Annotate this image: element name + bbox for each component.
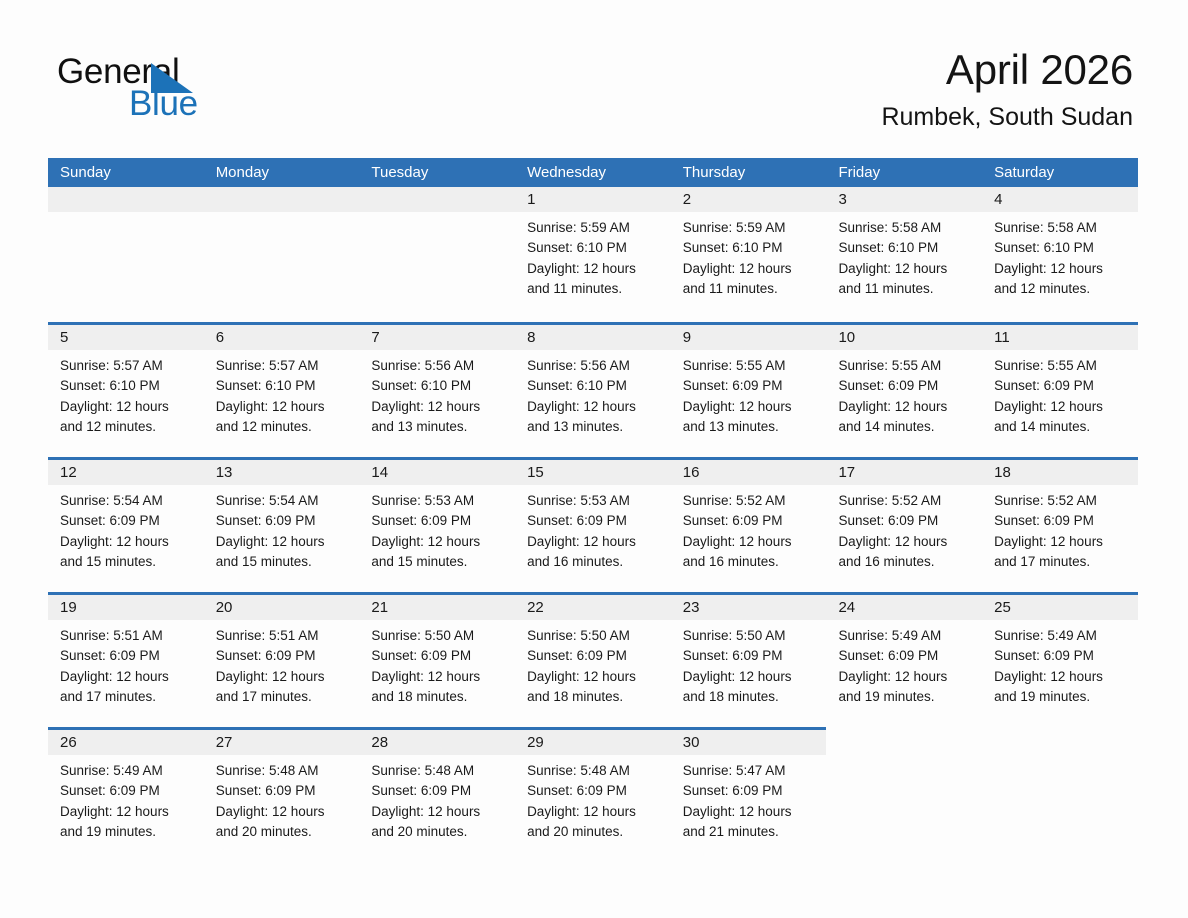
day-info-daylight2: and 20 minutes.	[371, 822, 507, 842]
day-info: Sunrise: 5:59 AMSunset: 6:10 PMDaylight:…	[515, 212, 671, 299]
day-number: 30	[683, 732, 700, 753]
day-number: 14	[371, 462, 388, 483]
day-info-sunrise: Sunrise: 5:47 AM	[683, 761, 819, 781]
calendar-day-cell-4[interactable]: 4Sunrise: 5:58 AMSunset: 6:10 PMDaylight…	[982, 187, 1138, 322]
day-info: Sunrise: 5:49 AMSunset: 6:09 PMDaylight:…	[48, 755, 204, 842]
day-info: Sunrise: 5:55 AMSunset: 6:09 PMDaylight:…	[826, 350, 982, 437]
calendar-day-cell-14[interactable]: 14Sunrise: 5:53 AMSunset: 6:09 PMDayligh…	[359, 457, 515, 592]
day-info: Sunrise: 5:54 AMSunset: 6:09 PMDaylight:…	[204, 485, 360, 572]
day-info: Sunrise: 5:53 AMSunset: 6:09 PMDaylight:…	[359, 485, 515, 572]
day-info-daylight1: Daylight: 12 hours	[216, 802, 352, 822]
day-info-daylight2: and 16 minutes.	[527, 552, 663, 572]
calendar-day-cell-30[interactable]: 30Sunrise: 5:47 AMSunset: 6:09 PMDayligh…	[671, 727, 827, 858]
day-info-sunrise: Sunrise: 5:51 AM	[216, 626, 352, 646]
calendar-day-cell-15[interactable]: 15Sunrise: 5:53 AMSunset: 6:09 PMDayligh…	[515, 457, 671, 592]
day-info-daylight2: and 14 minutes.	[994, 417, 1130, 437]
day-info-daylight2: and 17 minutes.	[994, 552, 1130, 572]
day-info-daylight2: and 13 minutes.	[371, 417, 507, 437]
day-number-band	[671, 325, 827, 350]
day-info-daylight1: Daylight: 12 hours	[216, 667, 352, 687]
day-number: 21	[371, 597, 388, 618]
day-info-sunrise: Sunrise: 5:59 AM	[683, 218, 819, 238]
calendar-day-cell-25[interactable]: 25Sunrise: 5:49 AMSunset: 6:09 PMDayligh…	[982, 592, 1138, 727]
day-info-daylight1: Daylight: 12 hours	[371, 532, 507, 552]
day-number: 11	[994, 327, 1010, 348]
day-info-daylight2: and 13 minutes.	[683, 417, 819, 437]
day-info: Sunrise: 5:51 AMSunset: 6:09 PMDaylight:…	[48, 620, 204, 707]
day-info-sunset: Sunset: 6:10 PM	[527, 238, 663, 258]
day-info-sunrise: Sunrise: 5:48 AM	[527, 761, 663, 781]
day-info-sunrise: Sunrise: 5:52 AM	[838, 491, 974, 511]
day-info-daylight1: Daylight: 12 hours	[60, 802, 196, 822]
day-info-daylight1: Daylight: 12 hours	[994, 397, 1130, 417]
day-number-band	[204, 325, 360, 350]
calendar-week-row: 5Sunrise: 5:57 AMSunset: 6:10 PMDaylight…	[48, 322, 1138, 457]
day-info: Sunrise: 5:47 AMSunset: 6:09 PMDaylight:…	[671, 755, 827, 842]
day-info-daylight2: and 13 minutes.	[527, 417, 663, 437]
day-info-daylight2: and 12 minutes.	[60, 417, 196, 437]
day-info-sunrise: Sunrise: 5:55 AM	[838, 356, 974, 376]
day-info-daylight2: and 17 minutes.	[60, 687, 196, 707]
day-info-sunset: Sunset: 6:09 PM	[838, 511, 974, 531]
day-info-sunrise: Sunrise: 5:58 AM	[838, 218, 974, 238]
calendar-day-cell-empty	[826, 727, 982, 858]
calendar-week-row: 19Sunrise: 5:51 AMSunset: 6:09 PMDayligh…	[48, 592, 1138, 727]
day-info-daylight2: and 12 minutes.	[216, 417, 352, 437]
day-info-sunrise: Sunrise: 5:49 AM	[60, 761, 196, 781]
day-info-sunrise: Sunrise: 5:55 AM	[994, 356, 1130, 376]
day-info-sunset: Sunset: 6:10 PM	[371, 376, 507, 396]
day-info: Sunrise: 5:56 AMSunset: 6:10 PMDaylight:…	[359, 350, 515, 437]
day-number: 7	[371, 327, 379, 348]
day-info-daylight2: and 18 minutes.	[527, 687, 663, 707]
day-number: 28	[371, 732, 388, 753]
day-number: 27	[216, 732, 233, 753]
day-number-band	[359, 187, 515, 212]
calendar-day-cell-1[interactable]: 1Sunrise: 5:59 AMSunset: 6:10 PMDaylight…	[515, 187, 671, 322]
day-info-daylight1: Daylight: 12 hours	[838, 532, 974, 552]
day-info: Sunrise: 5:50 AMSunset: 6:09 PMDaylight:…	[359, 620, 515, 707]
day-info-sunrise: Sunrise: 5:58 AM	[994, 218, 1130, 238]
day-info-sunset: Sunset: 6:10 PM	[994, 238, 1130, 258]
day-number-band	[826, 187, 982, 212]
day-info-sunset: Sunset: 6:09 PM	[371, 646, 507, 666]
weekday-header-friday: Friday	[826, 158, 982, 187]
day-number-band	[48, 187, 204, 212]
day-info-sunset: Sunset: 6:10 PM	[838, 238, 974, 258]
day-info-sunrise: Sunrise: 5:56 AM	[371, 356, 507, 376]
day-info-daylight1: Daylight: 12 hours	[371, 397, 507, 417]
day-info-daylight2: and 16 minutes.	[838, 552, 974, 572]
calendar-day-cell-21[interactable]: 21Sunrise: 5:50 AMSunset: 6:09 PMDayligh…	[359, 592, 515, 727]
day-info-daylight1: Daylight: 12 hours	[216, 397, 352, 417]
day-info-daylight2: and 12 minutes.	[994, 279, 1130, 299]
calendar-day-cell-13[interactable]: 13Sunrise: 5:54 AMSunset: 6:09 PMDayligh…	[204, 457, 360, 592]
day-number: 8	[527, 327, 535, 348]
day-info-daylight1: Daylight: 12 hours	[527, 259, 663, 279]
day-info-sunset: Sunset: 6:09 PM	[527, 511, 663, 531]
day-info: Sunrise: 5:56 AMSunset: 6:10 PMDaylight:…	[515, 350, 671, 437]
day-info-daylight1: Daylight: 12 hours	[994, 259, 1130, 279]
day-number-band	[515, 187, 671, 212]
day-info: Sunrise: 5:53 AMSunset: 6:09 PMDaylight:…	[515, 485, 671, 572]
day-number: 18	[994, 462, 1011, 483]
calendar-day-cell-19[interactable]: 19Sunrise: 5:51 AMSunset: 6:09 PMDayligh…	[48, 592, 204, 727]
day-number: 9	[683, 327, 691, 348]
calendar-day-cell-18[interactable]: 18Sunrise: 5:52 AMSunset: 6:09 PMDayligh…	[982, 457, 1138, 592]
day-number: 13	[216, 462, 233, 483]
calendar-day-cell-empty	[982, 727, 1138, 858]
day-info: Sunrise: 5:55 AMSunset: 6:09 PMDaylight:…	[671, 350, 827, 437]
calendar-day-cell-29[interactable]: 29Sunrise: 5:48 AMSunset: 6:09 PMDayligh…	[515, 727, 671, 858]
weekday-header-row: SundayMondayTuesdayWednesdayThursdayFrid…	[48, 158, 1138, 187]
day-number: 29	[527, 732, 544, 753]
day-info-daylight1: Daylight: 12 hours	[683, 397, 819, 417]
day-info-sunrise: Sunrise: 5:55 AM	[683, 356, 819, 376]
day-info-daylight1: Daylight: 12 hours	[60, 532, 196, 552]
day-number: 12	[60, 462, 77, 483]
day-info-daylight1: Daylight: 12 hours	[683, 667, 819, 687]
day-info-daylight1: Daylight: 12 hours	[527, 667, 663, 687]
page-title: April 2026	[881, 44, 1133, 96]
day-info-sunset: Sunset: 6:09 PM	[216, 781, 352, 801]
day-info-daylight2: and 20 minutes.	[216, 822, 352, 842]
day-info-daylight2: and 18 minutes.	[371, 687, 507, 707]
day-number: 25	[994, 597, 1011, 618]
day-info-sunrise: Sunrise: 5:48 AM	[216, 761, 352, 781]
day-number: 10	[838, 327, 855, 348]
day-info-sunset: Sunset: 6:09 PM	[838, 646, 974, 666]
day-info: Sunrise: 5:58 AMSunset: 6:10 PMDaylight:…	[826, 212, 982, 299]
day-info: Sunrise: 5:58 AMSunset: 6:10 PMDaylight:…	[982, 212, 1138, 299]
day-number-band	[48, 325, 204, 350]
day-number-band	[671, 187, 827, 212]
day-number: 16	[683, 462, 700, 483]
day-info-sunset: Sunset: 6:09 PM	[838, 376, 974, 396]
day-number: 22	[527, 597, 544, 618]
day-info-daylight1: Daylight: 12 hours	[60, 667, 196, 687]
day-info-daylight1: Daylight: 12 hours	[60, 397, 196, 417]
calendar-day-cell-20[interactable]: 20Sunrise: 5:51 AMSunset: 6:09 PMDayligh…	[204, 592, 360, 727]
day-info-sunrise: Sunrise: 5:49 AM	[994, 626, 1130, 646]
day-info-sunset: Sunset: 6:09 PM	[216, 511, 352, 531]
day-info-sunset: Sunset: 6:09 PM	[527, 781, 663, 801]
day-number: 3	[838, 189, 846, 210]
day-info-daylight1: Daylight: 12 hours	[683, 259, 819, 279]
day-info-daylight1: Daylight: 12 hours	[216, 532, 352, 552]
day-info-sunrise: Sunrise: 5:56 AM	[527, 356, 663, 376]
weekday-header-monday: Monday	[204, 158, 360, 187]
calendar-day-cell-24[interactable]: 24Sunrise: 5:49 AMSunset: 6:09 PMDayligh…	[826, 592, 982, 727]
day-info-sunset: Sunset: 6:10 PM	[527, 376, 663, 396]
day-info-sunset: Sunset: 6:09 PM	[994, 376, 1130, 396]
day-info-daylight2: and 21 minutes.	[683, 822, 819, 842]
day-info-sunrise: Sunrise: 5:53 AM	[371, 491, 507, 511]
day-info-sunrise: Sunrise: 5:53 AM	[527, 491, 663, 511]
day-info-daylight1: Daylight: 12 hours	[838, 259, 974, 279]
day-number: 6	[216, 327, 224, 348]
day-info-daylight2: and 20 minutes.	[527, 822, 663, 842]
day-info-daylight2: and 19 minutes.	[60, 822, 196, 842]
day-info-daylight2: and 15 minutes.	[216, 552, 352, 572]
day-info-sunrise: Sunrise: 5:57 AM	[60, 356, 196, 376]
weekday-header-thursday: Thursday	[671, 158, 827, 187]
calendar-day-cell-23[interactable]: 23Sunrise: 5:50 AMSunset: 6:09 PMDayligh…	[671, 592, 827, 727]
weekday-header-sunday: Sunday	[48, 158, 204, 187]
calendar-day-cell-12[interactable]: 12Sunrise: 5:54 AMSunset: 6:09 PMDayligh…	[48, 457, 204, 592]
day-info-daylight1: Daylight: 12 hours	[838, 667, 974, 687]
day-info-sunrise: Sunrise: 5:48 AM	[371, 761, 507, 781]
calendar-day-cell-10[interactable]: 10Sunrise: 5:55 AMSunset: 6:09 PMDayligh…	[826, 322, 982, 457]
day-info: Sunrise: 5:49 AMSunset: 6:09 PMDaylight:…	[982, 620, 1138, 707]
day-info-sunset: Sunset: 6:09 PM	[216, 646, 352, 666]
calendar-day-cell-empty	[359, 187, 515, 322]
day-info-sunset: Sunset: 6:09 PM	[60, 511, 196, 531]
calendar-day-cell-16[interactable]: 16Sunrise: 5:52 AMSunset: 6:09 PMDayligh…	[671, 457, 827, 592]
calendar-day-cell-3[interactable]: 3Sunrise: 5:58 AMSunset: 6:10 PMDaylight…	[826, 187, 982, 322]
day-info: Sunrise: 5:54 AMSunset: 6:09 PMDaylight:…	[48, 485, 204, 572]
day-info-sunset: Sunset: 6:09 PM	[683, 781, 819, 801]
calendar-day-cell-6[interactable]: 6Sunrise: 5:57 AMSunset: 6:10 PMDaylight…	[204, 322, 360, 457]
day-info-sunset: Sunset: 6:09 PM	[994, 511, 1130, 531]
calendar-day-cell-5[interactable]: 5Sunrise: 5:57 AMSunset: 6:10 PMDaylight…	[48, 322, 204, 457]
day-info: Sunrise: 5:57 AMSunset: 6:10 PMDaylight:…	[48, 350, 204, 437]
day-number: 5	[60, 327, 68, 348]
day-info: Sunrise: 5:48 AMSunset: 6:09 PMDaylight:…	[359, 755, 515, 842]
day-info-sunrise: Sunrise: 5:50 AM	[683, 626, 819, 646]
day-info-daylight1: Daylight: 12 hours	[838, 397, 974, 417]
day-info: Sunrise: 5:57 AMSunset: 6:10 PMDaylight:…	[204, 350, 360, 437]
day-number-band	[204, 187, 360, 212]
day-info-sunset: Sunset: 6:10 PM	[683, 238, 819, 258]
day-info-sunrise: Sunrise: 5:59 AM	[527, 218, 663, 238]
calendar-day-cell-9[interactable]: 9Sunrise: 5:55 AMSunset: 6:09 PMDaylight…	[671, 322, 827, 457]
day-number: 2	[683, 189, 691, 210]
day-info-daylight2: and 17 minutes.	[216, 687, 352, 707]
calendar-day-cell-27[interactable]: 27Sunrise: 5:48 AMSunset: 6:09 PMDayligh…	[204, 727, 360, 858]
day-info-daylight2: and 11 minutes.	[838, 279, 974, 299]
day-info-daylight2: and 15 minutes.	[60, 552, 196, 572]
day-info-sunset: Sunset: 6:09 PM	[527, 646, 663, 666]
day-info-sunset: Sunset: 6:09 PM	[994, 646, 1130, 666]
day-info: Sunrise: 5:55 AMSunset: 6:09 PMDaylight:…	[982, 350, 1138, 437]
day-info-daylight2: and 19 minutes.	[838, 687, 974, 707]
calendar-week-row: 1Sunrise: 5:59 AMSunset: 6:10 PMDaylight…	[48, 187, 1138, 322]
day-info-sunrise: Sunrise: 5:50 AM	[527, 626, 663, 646]
day-info-daylight2: and 15 minutes.	[371, 552, 507, 572]
calendar-day-cell-22[interactable]: 22Sunrise: 5:50 AMSunset: 6:09 PMDayligh…	[515, 592, 671, 727]
day-info: Sunrise: 5:50 AMSunset: 6:09 PMDaylight:…	[671, 620, 827, 707]
day-info-daylight2: and 11 minutes.	[527, 279, 663, 299]
calendar-day-cell-28[interactable]: 28Sunrise: 5:48 AMSunset: 6:09 PMDayligh…	[359, 727, 515, 858]
day-info-sunset: Sunset: 6:09 PM	[60, 781, 196, 801]
day-number-band	[515, 325, 671, 350]
calendar-day-cell-2[interactable]: 2Sunrise: 5:59 AMSunset: 6:10 PMDaylight…	[671, 187, 827, 322]
day-info-sunrise: Sunrise: 5:50 AM	[371, 626, 507, 646]
day-info-daylight1: Daylight: 12 hours	[527, 532, 663, 552]
page-header: General Blue April 2026 Rumbek, South Su…	[0, 0, 1188, 150]
day-info-sunrise: Sunrise: 5:49 AM	[838, 626, 974, 646]
day-info: Sunrise: 5:50 AMSunset: 6:09 PMDaylight:…	[515, 620, 671, 707]
day-info: Sunrise: 5:52 AMSunset: 6:09 PMDaylight:…	[671, 485, 827, 572]
day-number: 23	[683, 597, 700, 618]
day-info-sunset: Sunset: 6:09 PM	[371, 511, 507, 531]
weekday-header-saturday: Saturday	[982, 158, 1138, 187]
day-number: 19	[60, 597, 77, 618]
general-blue-logo[interactable]: General Blue	[57, 52, 317, 132]
day-info-daylight1: Daylight: 12 hours	[683, 532, 819, 552]
day-info-daylight2: and 16 minutes.	[683, 552, 819, 572]
day-info-daylight1: Daylight: 12 hours	[527, 397, 663, 417]
calendar-day-cell-8[interactable]: 8Sunrise: 5:56 AMSunset: 6:10 PMDaylight…	[515, 322, 671, 457]
day-number: 17	[838, 462, 855, 483]
logo-text-blue: Blue	[129, 84, 198, 124]
day-info-sunrise: Sunrise: 5:51 AM	[60, 626, 196, 646]
day-info-sunrise: Sunrise: 5:57 AM	[216, 356, 352, 376]
calendar-day-cell-empty	[48, 187, 204, 322]
day-info-daylight1: Daylight: 12 hours	[527, 802, 663, 822]
day-number-band	[982, 727, 1138, 752]
day-info-daylight1: Daylight: 12 hours	[371, 667, 507, 687]
calendar-day-cell-empty	[204, 187, 360, 322]
day-info: Sunrise: 5:59 AMSunset: 6:10 PMDaylight:…	[671, 212, 827, 299]
day-info-sunrise: Sunrise: 5:52 AM	[994, 491, 1130, 511]
day-info-sunrise: Sunrise: 5:54 AM	[60, 491, 196, 511]
day-info-daylight2: and 18 minutes.	[683, 687, 819, 707]
calendar-week-row: 26Sunrise: 5:49 AMSunset: 6:09 PMDayligh…	[48, 727, 1138, 858]
day-info-sunset: Sunset: 6:09 PM	[371, 781, 507, 801]
weekday-header-tuesday: Tuesday	[359, 158, 515, 187]
day-info-daylight2: and 14 minutes.	[838, 417, 974, 437]
day-info: Sunrise: 5:52 AMSunset: 6:09 PMDaylight:…	[982, 485, 1138, 572]
day-info-daylight1: Daylight: 12 hours	[371, 802, 507, 822]
calendar-week-row: 12Sunrise: 5:54 AMSunset: 6:09 PMDayligh…	[48, 457, 1138, 592]
day-info: Sunrise: 5:49 AMSunset: 6:09 PMDaylight:…	[826, 620, 982, 707]
day-info-sunset: Sunset: 6:09 PM	[683, 511, 819, 531]
calendar-day-cell-17[interactable]: 17Sunrise: 5:52 AMSunset: 6:09 PMDayligh…	[826, 457, 982, 592]
day-number: 15	[527, 462, 544, 483]
day-info-daylight1: Daylight: 12 hours	[683, 802, 819, 822]
calendar-body: 1Sunrise: 5:59 AMSunset: 6:10 PMDaylight…	[48, 187, 1138, 858]
location-subtitle: Rumbek, South Sudan	[881, 102, 1133, 133]
day-info-sunset: Sunset: 6:09 PM	[683, 646, 819, 666]
day-info-daylight2: and 11 minutes.	[683, 279, 819, 299]
day-number-band	[982, 187, 1138, 212]
day-info: Sunrise: 5:48 AMSunset: 6:09 PMDaylight:…	[515, 755, 671, 842]
day-info-sunset: Sunset: 6:10 PM	[216, 376, 352, 396]
day-number: 20	[216, 597, 233, 618]
day-number-band	[826, 727, 982, 752]
day-info-sunrise: Sunrise: 5:54 AM	[216, 491, 352, 511]
day-info: Sunrise: 5:48 AMSunset: 6:09 PMDaylight:…	[204, 755, 360, 842]
day-info-sunrise: Sunrise: 5:52 AM	[683, 491, 819, 511]
day-info-daylight1: Daylight: 12 hours	[994, 667, 1130, 687]
calendar-page: General Blue April 2026 Rumbek, South Su…	[0, 0, 1188, 918]
day-info-sunset: Sunset: 6:10 PM	[60, 376, 196, 396]
calendar-day-cell-26[interactable]: 26Sunrise: 5:49 AMSunset: 6:09 PMDayligh…	[48, 727, 204, 858]
day-info: Sunrise: 5:51 AMSunset: 6:09 PMDaylight:…	[204, 620, 360, 707]
calendar-table: SundayMondayTuesdayWednesdayThursdayFrid…	[48, 158, 1138, 858]
calendar-day-cell-7[interactable]: 7Sunrise: 5:56 AMSunset: 6:10 PMDaylight…	[359, 322, 515, 457]
day-number-band	[359, 325, 515, 350]
day-number: 24	[838, 597, 855, 618]
day-info-sunset: Sunset: 6:09 PM	[60, 646, 196, 666]
day-number: 4	[994, 189, 1002, 210]
calendar-day-cell-11[interactable]: 11Sunrise: 5:55 AMSunset: 6:09 PMDayligh…	[982, 322, 1138, 457]
weekday-header-wednesday: Wednesday	[515, 158, 671, 187]
day-info-daylight1: Daylight: 12 hours	[994, 532, 1130, 552]
day-number: 1	[527, 189, 535, 210]
title-block: April 2026 Rumbek, South Sudan	[881, 44, 1133, 133]
day-info-sunset: Sunset: 6:09 PM	[683, 376, 819, 396]
day-number: 26	[60, 732, 77, 753]
day-info-daylight2: and 19 minutes.	[994, 687, 1130, 707]
day-info: Sunrise: 5:52 AMSunset: 6:09 PMDaylight:…	[826, 485, 982, 572]
